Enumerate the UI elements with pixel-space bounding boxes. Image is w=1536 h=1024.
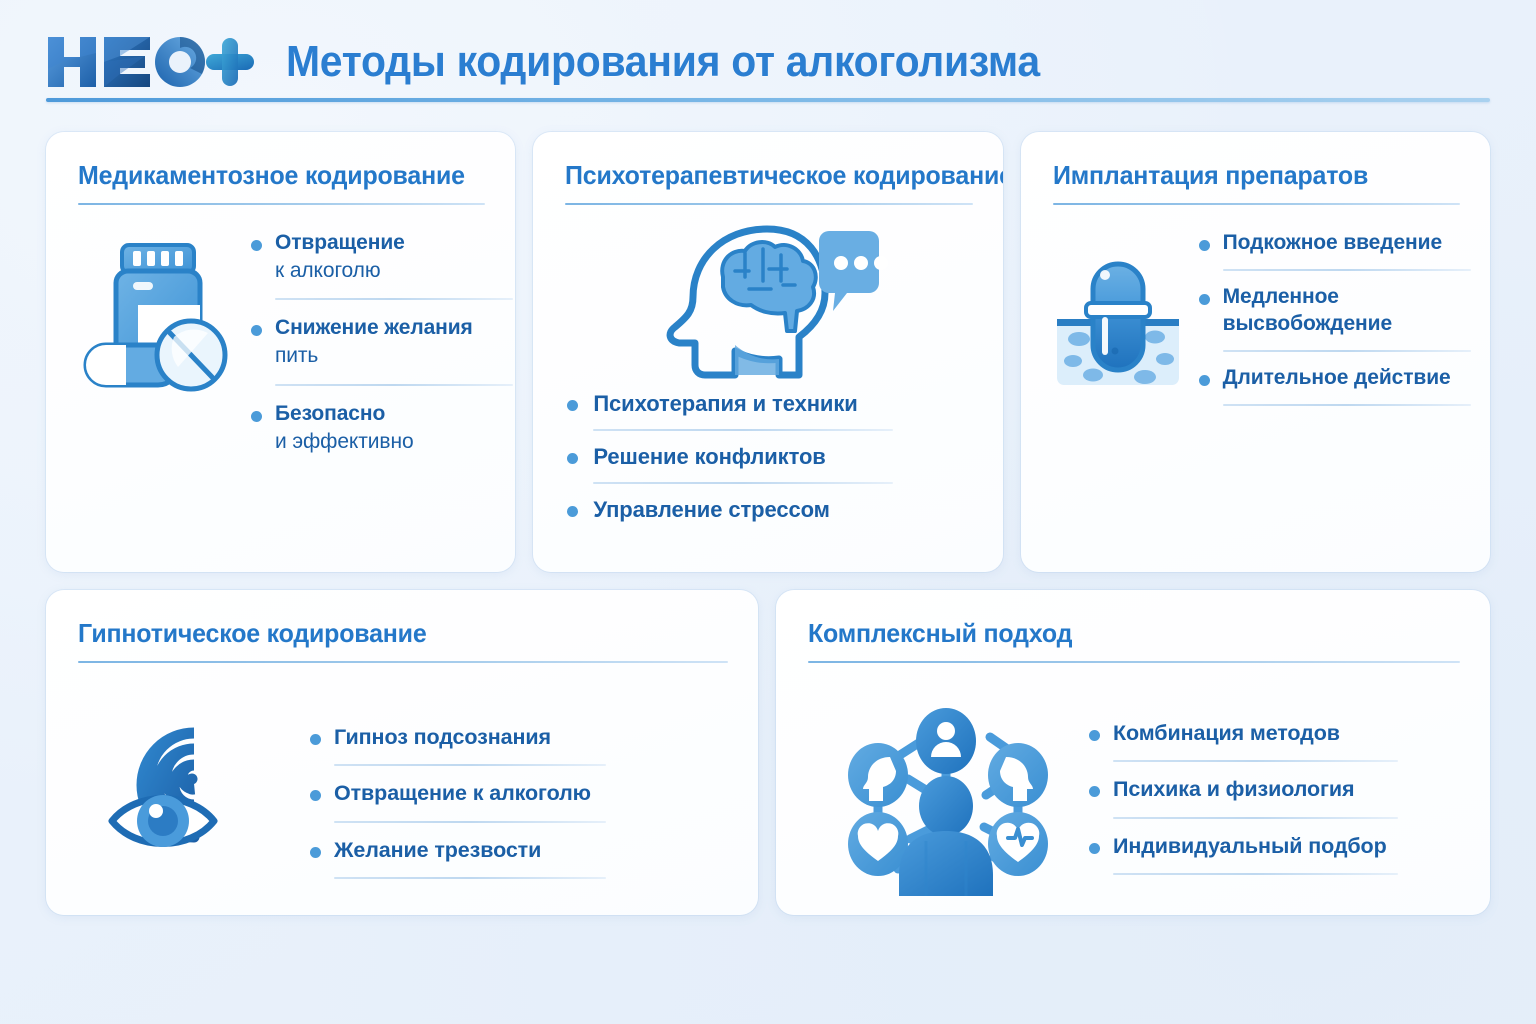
bullet-dot bbox=[251, 411, 262, 422]
bullet-line-2: высвобождение bbox=[1223, 310, 1471, 338]
bullet-line-2: к алкоголю bbox=[275, 257, 513, 285]
card-psihoterapevticheskoe[interactable]: Психотерапевтическое кодирование bbox=[533, 132, 1002, 572]
list-item[interactable]: Индивидуальный подбор bbox=[1087, 832, 1460, 860]
bullet-line-1: Психика и физиология bbox=[1113, 777, 1354, 801]
bullet-dot bbox=[1089, 786, 1100, 797]
card-title: Гипнотическое кодирование bbox=[78, 618, 702, 649]
list-item[interactable]: Отвращение к алкоголю bbox=[308, 779, 728, 807]
bullet-separator bbox=[593, 482, 893, 484]
list-item[interactable]: Желание трезвости bbox=[308, 836, 728, 864]
bullet-separator bbox=[334, 821, 606, 823]
bullet-dot bbox=[1199, 375, 1210, 386]
bullet-line-1: Безопасно bbox=[275, 400, 513, 428]
bullet-line-1: Отвращение к алкоголю bbox=[334, 781, 591, 805]
bullet-line-1: Подкожное введение bbox=[1223, 229, 1471, 257]
people-network-icon bbox=[838, 701, 1053, 896]
bullet-line-1: Комбинация методов bbox=[1113, 721, 1340, 745]
bullet-dot bbox=[1199, 240, 1210, 251]
pill-bottle-icon bbox=[78, 237, 233, 455]
bullet-dot bbox=[567, 453, 578, 464]
list-item[interactable]: Комбинация методов bbox=[1087, 719, 1460, 747]
bullet-dot bbox=[251, 325, 262, 336]
card-title-underline bbox=[78, 661, 728, 663]
bullet-line-1: Медленное bbox=[1223, 283, 1471, 311]
bullet-separator bbox=[275, 384, 513, 386]
cards-row-bottom: Гипнотическое кодирование bbox=[46, 590, 1490, 915]
bullet-separator bbox=[334, 764, 606, 766]
bullet-dot bbox=[310, 734, 321, 745]
hypnosis-eye-spiral-icon bbox=[106, 715, 266, 892]
list-item[interactable]: Отвращение к алкоголю bbox=[249, 229, 513, 284]
bullet-line-1: Управление стрессом bbox=[593, 497, 830, 522]
list-item[interactable]: Длительное действие bbox=[1197, 364, 1471, 392]
card-title: Комплексный подход bbox=[808, 618, 1434, 649]
bullet-line-1: Отвращение bbox=[275, 229, 513, 257]
card-implantaciya[interactable]: Имплантация препаратов bbox=[1021, 132, 1490, 572]
card-title: Психотерапевтическое кодирование bbox=[565, 160, 956, 191]
card-title-underline bbox=[565, 203, 972, 205]
bullet-line-2: пить bbox=[275, 342, 513, 370]
head-brain-speech-icon bbox=[649, 219, 889, 379]
bullet-separator bbox=[1223, 350, 1471, 352]
bullet-dot bbox=[1089, 730, 1100, 741]
capsule-implant-icon bbox=[1053, 247, 1183, 418]
bullet-list: Отвращение к алкоголю Снижение желания п… bbox=[249, 229, 513, 455]
bullet-dot bbox=[1199, 294, 1210, 305]
card-title-underline bbox=[78, 203, 485, 205]
bullet-list: Гипноз подсознания Отвращение к алкоголю… bbox=[308, 723, 728, 892]
bullet-line-1: Желание трезвости bbox=[334, 838, 541, 862]
bullet-separator bbox=[1223, 404, 1471, 406]
bullet-separator bbox=[334, 877, 606, 879]
list-item[interactable]: Решение конфликтов bbox=[565, 442, 972, 471]
card-title: Медикаментозное кодирование bbox=[78, 160, 469, 191]
list-item[interactable]: Безопасно и эффективно bbox=[249, 400, 513, 455]
bullet-dot bbox=[251, 240, 262, 251]
bullet-separator bbox=[1113, 873, 1398, 875]
bullet-line-1: Гипноз подсознания bbox=[334, 725, 551, 749]
list-item[interactable]: Психика и физиология bbox=[1087, 775, 1460, 803]
bullet-line-2: и эффективно bbox=[275, 428, 513, 456]
infographic-page: Методы кодирования от алкоголизма Медика… bbox=[0, 0, 1536, 1024]
neo-plus-logo bbox=[46, 31, 256, 93]
bullet-line-1: Индивидуальный подбор bbox=[1113, 834, 1387, 858]
cards-row-top: Медикаментозное кодирование bbox=[46, 132, 1490, 572]
header-divider bbox=[46, 98, 1490, 102]
bullet-dot bbox=[567, 506, 578, 517]
list-item[interactable]: Снижение желания пить bbox=[249, 314, 513, 369]
bullet-list: Психотерапия и техники Решение конфликто… bbox=[565, 389, 972, 524]
bullet-line-1: Снижение желания bbox=[275, 314, 513, 342]
list-item[interactable]: Психотерапия и техники bbox=[565, 389, 972, 418]
bullet-separator bbox=[1113, 817, 1398, 819]
list-item[interactable]: Гипноз подсознания bbox=[308, 723, 728, 751]
bullet-separator bbox=[1113, 760, 1398, 762]
page-header: Методы кодирования от алкоголизма bbox=[46, 0, 1490, 92]
card-kompleksnyy-podhod[interactable]: Комплексный подход bbox=[776, 590, 1490, 915]
bullet-list: Комбинация методов Психика и физиология … bbox=[1087, 719, 1460, 896]
list-item[interactable]: Медленное высвобождение bbox=[1197, 283, 1471, 338]
bullet-dot bbox=[310, 790, 321, 801]
card-medikamentoznoe[interactable]: Медикаментозное кодирование bbox=[46, 132, 515, 572]
bullet-dot bbox=[1089, 843, 1100, 854]
bullet-separator bbox=[593, 429, 893, 431]
bullet-line-1: Решение конфликтов bbox=[593, 444, 825, 469]
card-title-underline bbox=[808, 661, 1460, 663]
page-title: Методы кодирования от алкоголизма bbox=[286, 37, 1040, 87]
bullet-dot bbox=[310, 847, 321, 858]
card-title: Имплантация препаратов bbox=[1053, 160, 1444, 191]
bullet-separator bbox=[275, 298, 513, 300]
card-title-underline bbox=[1053, 203, 1460, 205]
bullet-line-1: Длительное действие bbox=[1223, 364, 1471, 392]
bullet-line-1: Психотерапия и техники bbox=[593, 391, 857, 416]
list-item[interactable]: Управление стрессом bbox=[565, 495, 972, 524]
bullet-dot bbox=[567, 400, 578, 411]
bullet-list: Подкожное введение Медленное высвобожден… bbox=[1197, 229, 1471, 418]
card-gipnoticheskoe[interactable]: Гипнотическое кодирование bbox=[46, 590, 758, 915]
bullet-separator bbox=[1223, 269, 1471, 271]
list-item[interactable]: Подкожное введение bbox=[1197, 229, 1471, 257]
